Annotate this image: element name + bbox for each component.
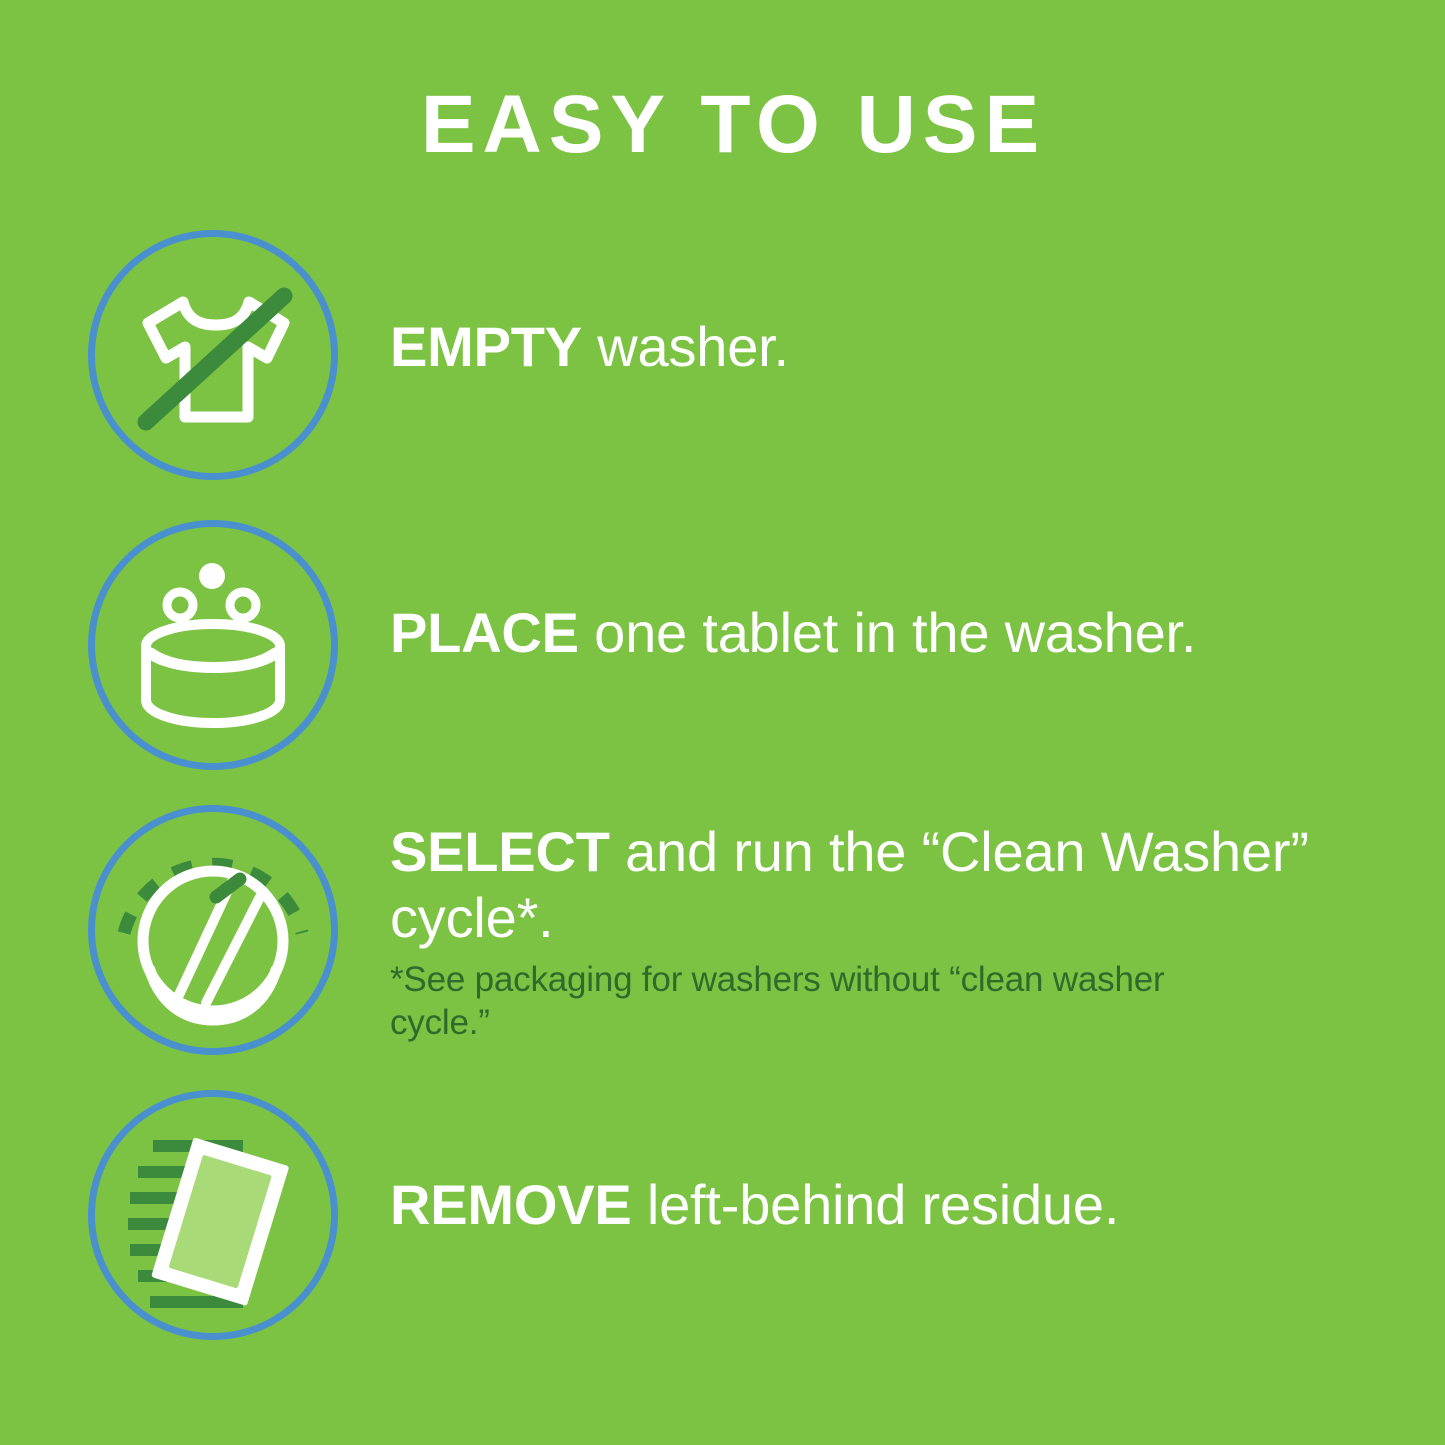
step-line: REMOVE left-behind residue. [390,1172,1385,1238]
step-rest: washer. [582,315,789,378]
step-text-empty: EMPTY washer. [338,230,1445,380]
wiping-cloth-glyph [88,1090,338,1340]
step-line: EMPTY washer. [390,314,1385,380]
no-clothes-icon [88,230,338,480]
step-footnote: *See packaging for washers without “clea… [390,959,1270,1044]
bubble-ring-right [230,592,256,618]
step-text-place: PLACE one tablet in the washer. [338,520,1445,666]
cloth-rect [151,1137,289,1306]
wiping-cloth-icon [88,1090,338,1340]
dissolving-tablet-icon [88,805,338,1055]
step-row-remove: REMOVE left-behind residue. [0,1090,1445,1340]
tablet-puck-glyph [88,520,338,770]
step-rest: one tablet in the washer. [579,601,1196,664]
no-clothes-glyph [88,230,338,480]
step-keyword: EMPTY [390,315,582,378]
page-title: EASY TO USE [0,82,1445,168]
step-text-remove: REMOVE left-behind residue. [338,1090,1445,1238]
step-rest: left-behind residue. [632,1173,1120,1236]
poster-root: EASY TO USE EMPTY washer. [0,0,1445,1445]
step-line: PLACE one tablet in the washer. [390,600,1385,666]
bubble-ring-left [167,592,193,618]
step-row-empty: EMPTY washer. [0,230,1445,480]
step-keyword: PLACE [390,601,579,664]
step-row-select: SELECT and run the “Clean Washer” cycle*… [0,805,1445,1055]
tablet-puck-icon [88,520,338,770]
dissolving-tablet-glyph [88,805,338,1055]
step-text-select: SELECT and run the “Clean Washer” cycle*… [338,805,1445,1045]
bubble-solid [199,563,225,589]
step-row-place: PLACE one tablet in the washer. [0,520,1445,770]
step-line: SELECT and run the “Clean Washer” cycle*… [390,819,1385,951]
step-keyword: SELECT [390,820,610,883]
step-keyword: REMOVE [390,1173,632,1236]
